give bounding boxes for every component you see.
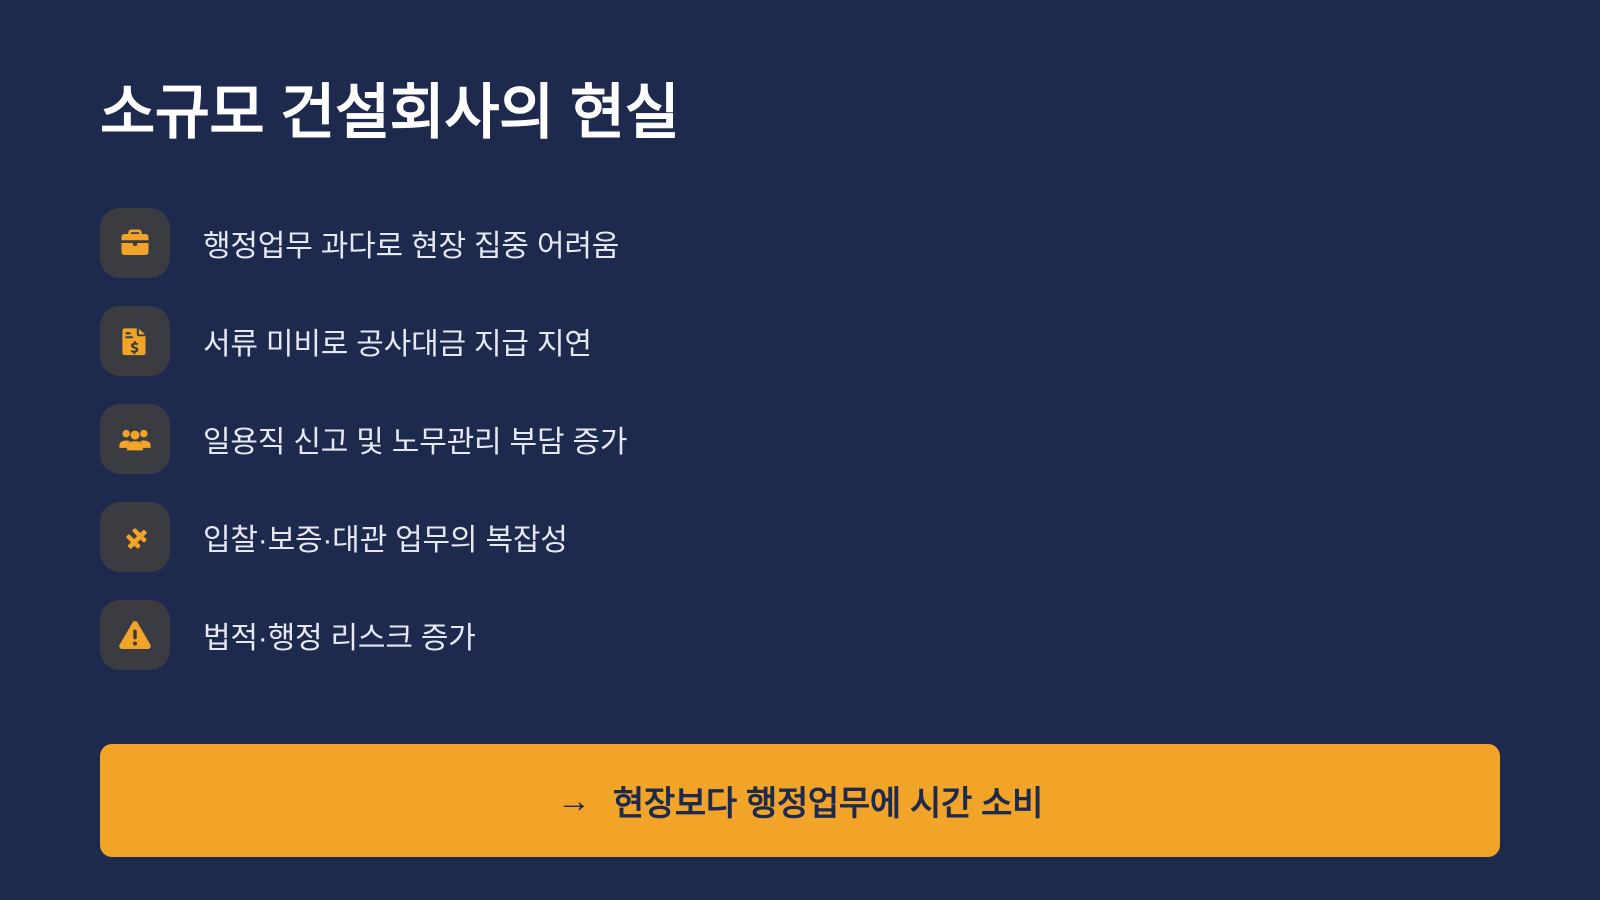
list-item-label: 입찰·보증·대관 업무의 복잡성 [203,515,568,559]
slide-root: 소규모 건설회사의 현실 행정업무 과다로 현장 집중 어려움 [0,0,1600,900]
list-item: 일용직 신고 및 노무관리 부담 증가 [100,404,1500,474]
list-item: 행정업무 과다로 현장 집중 어려움 [100,208,1500,278]
users-group-icon [100,404,170,474]
briefcase-icon [100,208,170,278]
cta-label: 현장보다 행정업무에 시간 소비 [613,776,1043,825]
list-item-label: 법적·행정 리스크 증가 [203,613,476,657]
page-title: 소규모 건설회사의 현실 [100,78,679,147]
issue-list: 행정업무 과다로 현장 집중 어려움 서류 미비로 공사대금 지급 지연 [100,208,1500,698]
list-item-label: 서류 미비로 공사대금 지급 지연 [203,319,592,363]
cta-content: → 현장보다 행정업무에 시간 소비 [557,776,1043,825]
list-item: 입찰·보증·대관 업무의 복잡성 [100,502,1500,572]
list-item: 법적·행정 리스크 증가 [100,600,1500,670]
arrow-right-icon: → [557,784,591,818]
list-item-label: 일용직 신고 및 노무관리 부담 증가 [203,417,627,461]
list-item: 서류 미비로 공사대금 지급 지연 [100,306,1500,376]
cta-banner[interactable]: → 현장보다 행정업무에 시간 소비 [100,744,1500,857]
invoice-dollar-icon [100,306,170,376]
list-item-label: 행정업무 과다로 현장 집중 어려움 [203,221,619,265]
gavel-icon [100,502,170,572]
warning-triangle-icon [100,600,170,670]
